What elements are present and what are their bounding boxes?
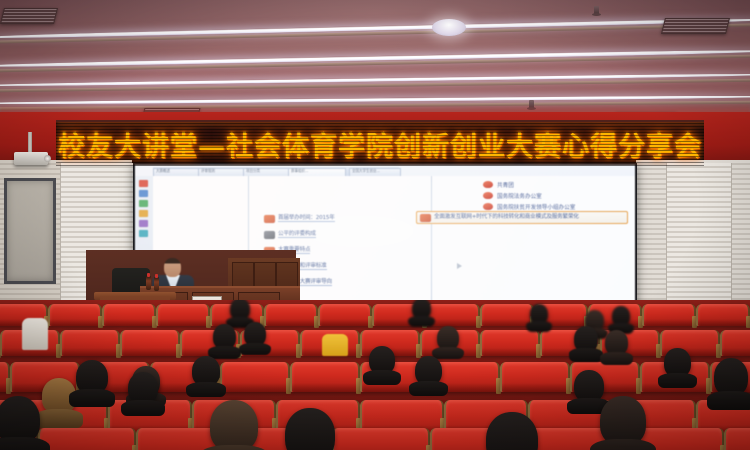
toolbar-icon[interactable] <box>139 180 148 187</box>
doc-tab[interactable]: 大赛概述 <box>153 168 199 176</box>
seat <box>38 428 136 450</box>
balance-icon <box>264 231 275 239</box>
seat <box>318 304 372 326</box>
seat <box>156 304 210 326</box>
audience-yellow-jacket <box>322 334 348 356</box>
audience-head <box>76 360 108 394</box>
audience-head <box>530 304 548 324</box>
slide-org-item: 共青团 <box>483 179 633 190</box>
audience-head <box>412 300 431 319</box>
seat <box>290 362 360 392</box>
audience-head <box>230 300 250 320</box>
air-vent <box>661 18 730 34</box>
slide-highlight-callout: 全面激发互联网+时代下的科技转化和商业模式及服务繁荣化 <box>416 211 628 224</box>
audience-head <box>213 324 236 349</box>
slide-bullet: 公平的评委构成 <box>264 231 316 239</box>
audience-head <box>600 396 646 446</box>
water-bottle <box>146 276 151 290</box>
seat <box>220 362 290 392</box>
audience-head <box>0 396 40 444</box>
seat <box>48 304 102 326</box>
slide-org-label: 国务院法务办公室 <box>497 192 542 200</box>
seal-icon <box>483 203 493 210</box>
seat <box>696 304 750 326</box>
led-banner: 校友大讲堂—社会体育学院创新创业大赛心得分享会 <box>56 120 704 168</box>
audience-head <box>574 326 598 352</box>
doc-tab[interactable]: 评审规则 <box>198 168 244 176</box>
speaker-head <box>164 258 181 277</box>
slide-org-item: 国务院扶贫开发领导小组办公室 <box>483 201 633 212</box>
audience-white-coat <box>22 318 48 350</box>
seat <box>120 330 180 356</box>
seat <box>642 304 696 326</box>
water-bottle <box>154 277 159 291</box>
slide-bullet: 首届举办时间：2015年 <box>264 215 335 223</box>
runner-icon <box>264 215 275 223</box>
doc-tab-label: 全国大学生创业... <box>352 169 380 175</box>
audience-head <box>437 326 459 350</box>
audience-head <box>210 400 258 450</box>
seat <box>724 428 750 450</box>
audience-head <box>128 372 158 404</box>
audience-head <box>714 358 748 396</box>
air-vent <box>0 8 58 24</box>
toolbar-icon[interactable] <box>139 190 148 197</box>
slide-org-item: 国务院法务办公室 <box>483 190 633 201</box>
doc-tab-selected[interactable]: 赛事组织... <box>288 168 346 176</box>
seat-row <box>0 304 750 326</box>
slide-divider <box>431 176 432 317</box>
projector-mount-arm <box>28 132 32 154</box>
doc-tab[interactable]: 项目分类 <box>243 168 289 176</box>
seal-icon <box>483 192 493 199</box>
seat <box>500 362 570 392</box>
audience-head <box>369 346 395 374</box>
audience-head <box>415 356 442 385</box>
slide-bullet-label: 公平的评委构成 <box>278 232 316 239</box>
doc-tab-label: 赛事组织... <box>291 169 308 175</box>
ceiling <box>0 0 750 130</box>
seat <box>264 304 318 326</box>
slide-highlight-label: 全面激发互联网+时代下的科技转化和商业模式及服务繁荣化 <box>434 215 579 221</box>
wall-framed-panel <box>4 178 56 284</box>
slide-org-list: 共青团 国务院法务办公室 国务院扶贫开发领导小组办公室 <box>483 179 633 212</box>
seat <box>480 330 540 356</box>
seat <box>0 362 10 392</box>
toolbar-icon[interactable] <box>139 200 148 207</box>
toolbar-icon[interactable] <box>139 230 148 237</box>
ceiling-dome-light <box>432 19 466 36</box>
lecture-hall-photo: 校友大讲堂—社会体育学院创新创业大赛心得分享会 大赛概述 <box>0 0 750 450</box>
doc-tab-label: 评审规则 <box>201 169 215 175</box>
sprinkler-head <box>594 6 599 15</box>
audience-head <box>664 348 691 377</box>
doc-tab[interactable]: 全国大学生创业... <box>349 168 401 176</box>
audience-head <box>285 408 335 450</box>
audience-head <box>574 370 604 402</box>
audience-head <box>192 356 220 386</box>
audience-head <box>244 322 266 346</box>
banner-title: 校友大讲堂—社会体育学院创新创业大赛心得分享会 <box>58 125 702 164</box>
toolbar-icon[interactable] <box>139 210 148 217</box>
doc-tab-label: 大赛概述 <box>156 169 170 175</box>
audience-seating <box>0 300 750 450</box>
ceiling-projector <box>14 152 48 165</box>
audience-head <box>612 306 630 326</box>
slide-org-label: 共青团 <box>497 181 514 189</box>
seat <box>720 330 750 356</box>
slide-bullet-label: 首届举办时间：2015年 <box>278 216 335 223</box>
slide-org-label: 国务院扶贫开发领导小组办公室 <box>497 203 575 211</box>
seal-icon <box>483 181 493 188</box>
seat <box>60 330 120 356</box>
seat <box>102 304 156 326</box>
swoosh-icon <box>420 214 431 222</box>
audience-head <box>605 330 628 355</box>
seat <box>332 428 430 450</box>
toolbar-icon[interactable] <box>139 220 148 227</box>
projector-lens-icon <box>44 155 51 162</box>
doc-tab-label: 项目分类 <box>246 169 260 175</box>
